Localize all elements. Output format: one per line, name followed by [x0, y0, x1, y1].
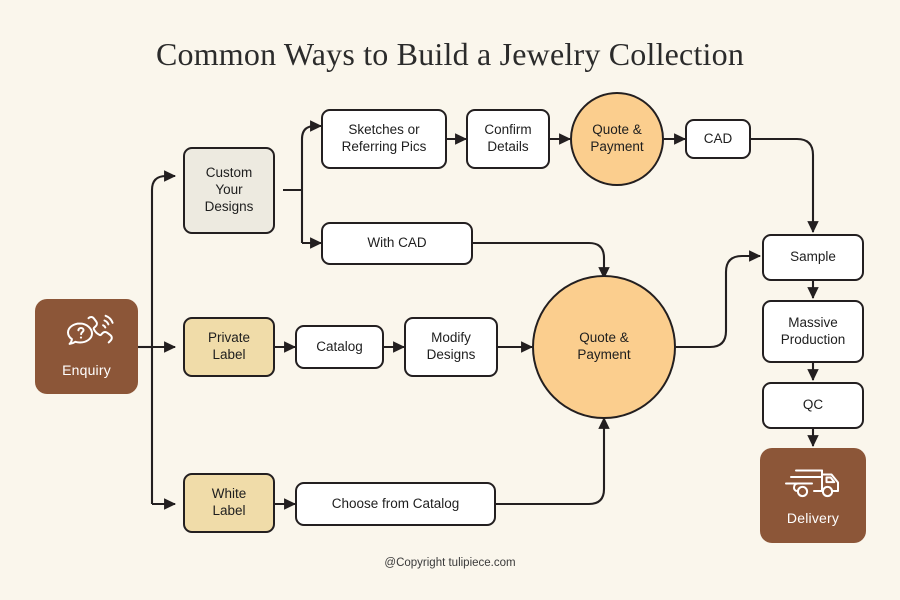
phone-question-icon — [58, 314, 116, 359]
node-choose-from-catalog[interactable]: Choose from Catalog — [295, 482, 496, 526]
node-label-line2: Label — [212, 503, 245, 520]
node-label: QC — [803, 397, 823, 414]
node-label-line1: Modify — [431, 330, 471, 347]
node-label-line2: Referring Pics — [342, 139, 427, 156]
node-label-line1: Massive — [788, 315, 838, 332]
flowchart-canvas: Common Ways to Build a Jewelry Collectio… — [0, 0, 900, 600]
node-label-line2: Your — [215, 182, 242, 199]
delivery-truck-icon — [780, 464, 846, 507]
node-label-line2: Label — [212, 347, 245, 364]
node-label-line1: Sketches or — [348, 122, 419, 139]
node-label: Delivery — [787, 510, 839, 528]
node-massive-production[interactable]: Massive Production — [762, 300, 864, 363]
node-cad[interactable]: CAD — [685, 119, 751, 159]
node-label-line1: Quote & — [592, 122, 642, 139]
node-label-line2: Designs — [427, 347, 476, 364]
node-white-label[interactable]: White Label — [183, 473, 275, 533]
node-label-line1: Private — [208, 330, 250, 347]
node-label: CAD — [704, 131, 733, 148]
node-label-line2: Payment — [590, 139, 643, 156]
node-label-line1: Quote & — [579, 330, 629, 347]
node-sample[interactable]: Sample — [762, 234, 864, 281]
node-catalog[interactable]: Catalog — [295, 325, 384, 369]
node-enquiry[interactable]: Enquiry — [35, 299, 138, 394]
node-label: Choose from Catalog — [332, 496, 460, 513]
node-label: Sample — [790, 249, 836, 266]
node-confirm-details[interactable]: Confirm Details — [466, 109, 550, 169]
node-label: With CAD — [367, 235, 426, 252]
node-quote-payment-top[interactable]: Quote & Payment — [570, 92, 664, 186]
node-label-line3: Designs — [205, 199, 254, 216]
node-label: Enquiry — [62, 362, 111, 380]
node-private-label[interactable]: Private Label — [183, 317, 275, 377]
node-custom-your-designs[interactable]: Custom Your Designs — [183, 147, 275, 234]
node-label-line2: Production — [781, 332, 846, 349]
node-label-line1: Confirm — [484, 122, 531, 139]
node-qc[interactable]: QC — [762, 382, 864, 429]
node-quote-payment-center[interactable]: Quote & Payment — [532, 275, 676, 419]
node-delivery[interactable]: Delivery — [760, 448, 866, 543]
node-label: Catalog — [316, 339, 363, 356]
node-sketches-or-referring-pics[interactable]: Sketches or Referring Pics — [321, 109, 447, 169]
node-label-line2: Details — [487, 139, 528, 156]
node-modify-designs[interactable]: Modify Designs — [404, 317, 498, 377]
copyright-footer: @Copyright tulipiece.com — [0, 557, 900, 569]
node-label-line1: Custom — [206, 165, 253, 182]
node-label-line1: White — [212, 486, 247, 503]
node-with-cad[interactable]: With CAD — [321, 222, 473, 265]
node-label-line2: Payment — [577, 347, 630, 364]
